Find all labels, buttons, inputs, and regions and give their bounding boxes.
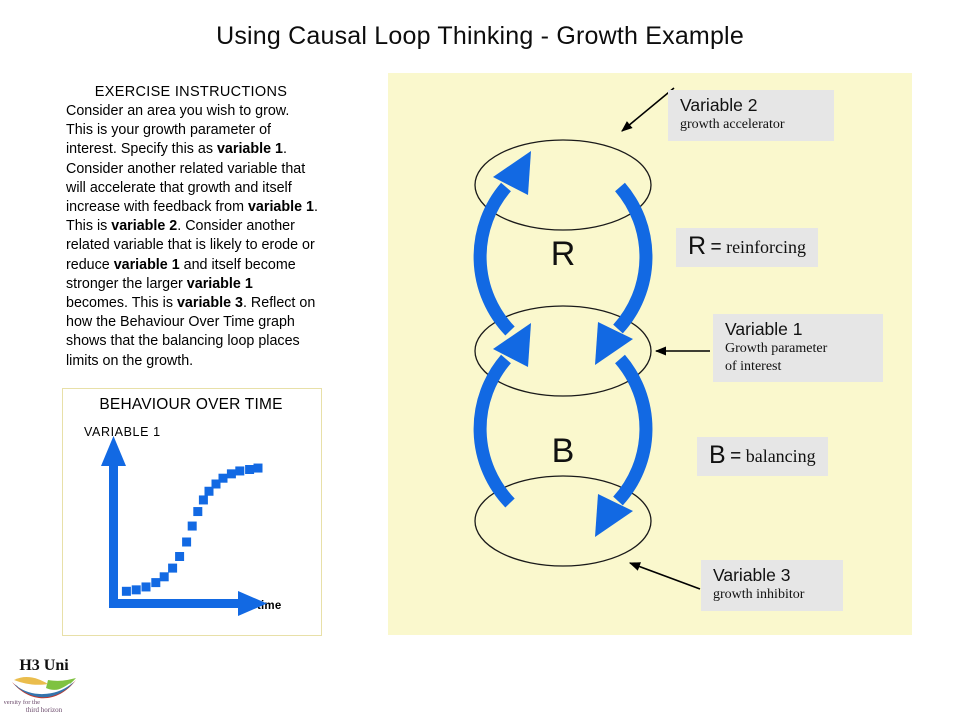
legend-reinforcing-symbol: R	[688, 232, 706, 260]
bot-curve-dot	[168, 564, 177, 573]
bot-curve-dot	[175, 552, 184, 561]
loop-letter-balancing: B	[518, 432, 608, 471]
instructions-body: Consider an area you wish to grow. This …	[66, 102, 318, 371]
legend-balancing-word: balancing	[746, 446, 816, 466]
bot-curve-dot	[235, 466, 244, 475]
logo-wordmark: H3 Uni	[19, 657, 69, 674]
callout-variable-1-sub-line1: Growth parameter	[725, 340, 873, 358]
legend-balancing-symbol: B	[709, 441, 726, 469]
loop-letter-reinforcing: R	[518, 235, 608, 274]
bot-x-axis	[109, 591, 267, 616]
legend-balancing: B = balancing	[697, 437, 828, 476]
instructions-heading: EXERCISE INSTRUCTIONS	[60, 84, 322, 100]
callout-variable-3: Variable 3 growth inhibitor	[701, 560, 843, 611]
bot-curve-dot	[122, 587, 131, 596]
bot-curve-dot	[182, 538, 191, 547]
bot-curve-dot	[254, 464, 263, 473]
bot-curve-dot	[227, 469, 236, 478]
callout-variable-2: Variable 2 growth accelerator	[668, 90, 834, 141]
callout-variable-1-sub-line2: of interest	[725, 358, 873, 376]
bot-y-axis	[101, 436, 126, 608]
callout-variable-3-title: Variable 3	[713, 565, 833, 586]
logo-leaf-shape	[12, 677, 76, 698]
bot-curve-dot	[142, 582, 151, 591]
legend-reinforcing-equals: =	[711, 237, 722, 258]
slide-canvas: Using Causal Loop Thinking - Growth Exam…	[0, 0, 960, 720]
balancing-loop-arrows	[480, 323, 646, 537]
bot-curve-dot	[193, 507, 202, 516]
page-title: Using Causal Loop Thinking - Growth Exam…	[0, 22, 960, 51]
variable-3-leader-line	[630, 563, 700, 589]
behaviour-over-time-chart	[62, 388, 320, 634]
callout-variable-3-sub: growth inhibitor	[713, 586, 833, 604]
legend-balancing-equals: =	[730, 446, 741, 467]
bot-curve-dot	[245, 465, 254, 474]
bot-curve-dot	[199, 495, 208, 504]
bot-curve-dot	[160, 572, 169, 581]
legend-reinforcing: R = reinforcing	[676, 228, 818, 267]
callout-variable-1-title: Variable 1	[725, 319, 873, 340]
h3uni-logo-icon: H3 Uni a university for the third horizo…	[4, 650, 84, 716]
legend-reinforcing-word: reinforcing	[726, 237, 806, 257]
bot-curve-dot	[151, 578, 160, 587]
callout-variable-2-title: Variable 2	[680, 95, 824, 116]
callout-variable-2-sub: growth accelerator	[680, 116, 824, 134]
callout-variable-1: Variable 1 Growth parameter of interest	[713, 314, 883, 382]
bot-curve-dot	[219, 474, 228, 483]
logo-tagline-line1: a university for the	[4, 699, 40, 706]
bot-curve-dot	[132, 585, 141, 594]
logo-tagline-line2: third horizon	[26, 706, 63, 714]
bot-sigmoid-curve	[122, 464, 263, 596]
bot-curve-dot	[188, 522, 197, 531]
variable-2-leader-line	[622, 88, 674, 131]
